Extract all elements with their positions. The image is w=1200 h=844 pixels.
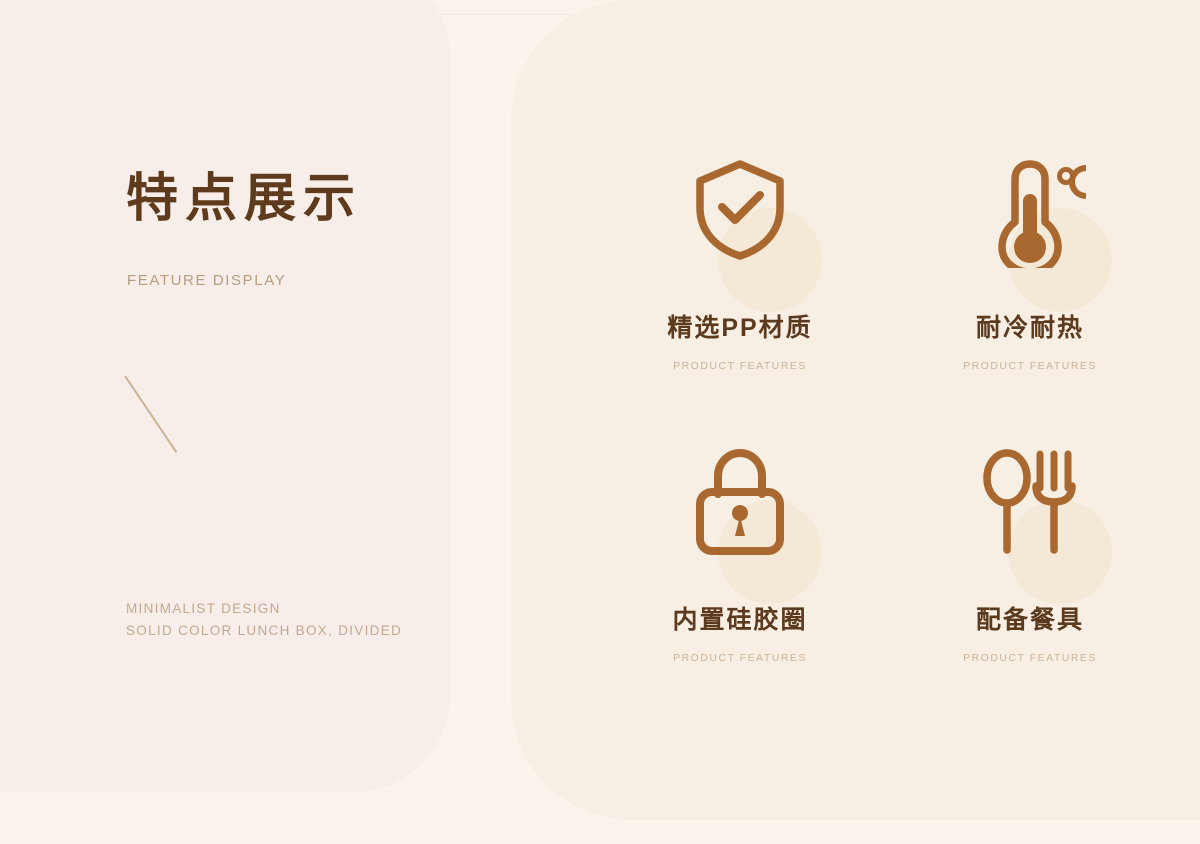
page-subtitle: FEATURE DISPLAY — [127, 272, 286, 289]
feature-label: 配备餐具 — [880, 608, 1180, 633]
thermometer-icon — [974, 150, 1086, 268]
shield-check-icon — [684, 150, 796, 268]
left-panel: 特点展示 FEATURE DISPLAY MINIMALIST DESIGN S… — [0, 0, 450, 792]
footer-tagline: MINIMALIST DESIGN SOLID COLOR LUNCH BOX,… — [126, 598, 402, 642]
feature-card-cutlery: 配备餐具 PRODUCT FEATURES — [880, 442, 1180, 664]
feature-card-silicone-ring: 内置硅胶圈 PRODUCT FEATURES — [590, 442, 890, 664]
feature-icon-wrapper — [590, 442, 890, 572]
feature-sublabel: PRODUCT FEATURES — [880, 653, 1180, 664]
feature-sublabel: PRODUCT FEATURES — [590, 361, 890, 372]
footer-line-1: MINIMALIST DESIGN — [126, 598, 402, 620]
feature-sublabel: PRODUCT FEATURES — [880, 361, 1180, 372]
feature-grid: 精选PP材质 PRODUCT FEATURES 耐冷耐热 PRODUCT FEA… — [511, 0, 1200, 820]
feature-label: 耐冷耐热 — [880, 316, 1180, 341]
feature-icon-wrapper — [880, 150, 1180, 280]
lock-icon — [684, 442, 796, 560]
feature-sublabel: PRODUCT FEATURES — [590, 653, 890, 664]
feature-card-temperature: 耐冷耐热 PRODUCT FEATURES — [880, 150, 1180, 372]
page-title: 特点展示 — [126, 173, 362, 225]
diagonal-accent-line — [124, 375, 177, 452]
footer-line-2: SOLID COLOR LUNCH BOX, DIVIDED — [126, 620, 402, 642]
spoon-fork-icon — [974, 442, 1086, 560]
feature-label: 精选PP材质 — [590, 316, 890, 341]
feature-display-banner: 特点展示 FEATURE DISPLAY MINIMALIST DESIGN S… — [0, 0, 1200, 844]
feature-card-pp-material: 精选PP材质 PRODUCT FEATURES — [590, 150, 890, 372]
left-panel-content: 特点展示 FEATURE DISPLAY MINIMALIST DESIGN S… — [0, 0, 450, 792]
feature-icon-wrapper — [590, 150, 890, 280]
feature-label: 内置硅胶圈 — [590, 608, 890, 633]
feature-icon-wrapper — [880, 442, 1180, 572]
